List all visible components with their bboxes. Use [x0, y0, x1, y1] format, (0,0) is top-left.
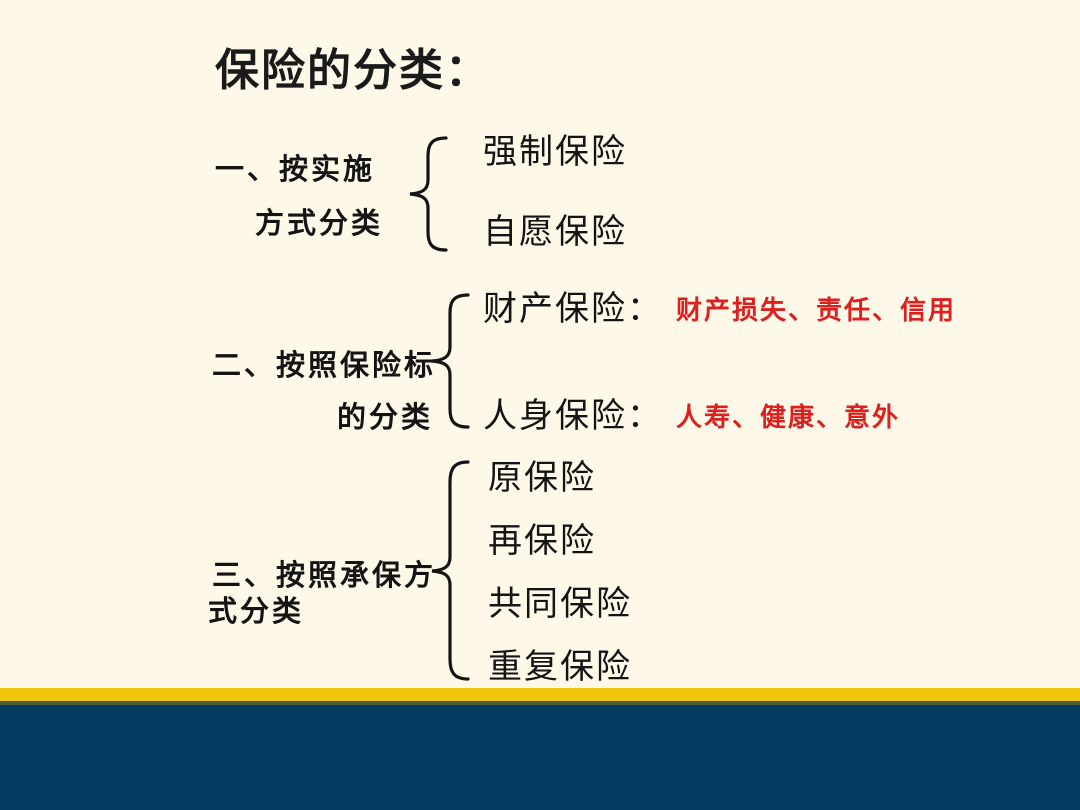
section-3-item-2: 再保险	[488, 521, 596, 561]
section-2-item-1-detail: 财产损失、责任、信用	[676, 295, 956, 327]
section-1-item-1: 强制保险	[483, 132, 627, 172]
section-3-label-line2: 式分类	[208, 594, 304, 628]
section-2-label-line2: 的分类	[337, 400, 433, 434]
section-1-item-2: 自愿保险	[483, 212, 627, 252]
slide-canvas: 保险的分类： 一、按实施 方式分类 强制保险 自愿保险 二、按照保险标 的分类 …	[0, 0, 1080, 810]
brace-section-3	[428, 458, 474, 683]
section-3-item-1: 原保险	[488, 458, 596, 498]
section-2-item-2-detail: 人寿、健康、意外	[676, 402, 900, 434]
footer-gold-band	[0, 688, 1080, 701]
section-1-label-line2: 方式分类	[255, 206, 383, 240]
section-3-item-4: 重复保险	[488, 647, 632, 687]
section-2-label-line1: 二、按照保险标	[212, 348, 436, 382]
section-3-label-line1: 三、按照承保方	[212, 558, 436, 592]
brace-section-1	[404, 134, 454, 254]
section-2-item-2: 人身保险：	[483, 396, 663, 436]
section-3-item-3: 共同保险	[488, 584, 632, 624]
brace-section-2	[428, 291, 474, 431]
section-1-label-line1: 一、按实施	[215, 152, 375, 186]
page-title: 保险的分类：	[215, 45, 491, 97]
footer-navy-band	[0, 705, 1080, 810]
section-2-item-1: 财产保险：	[483, 289, 663, 329]
